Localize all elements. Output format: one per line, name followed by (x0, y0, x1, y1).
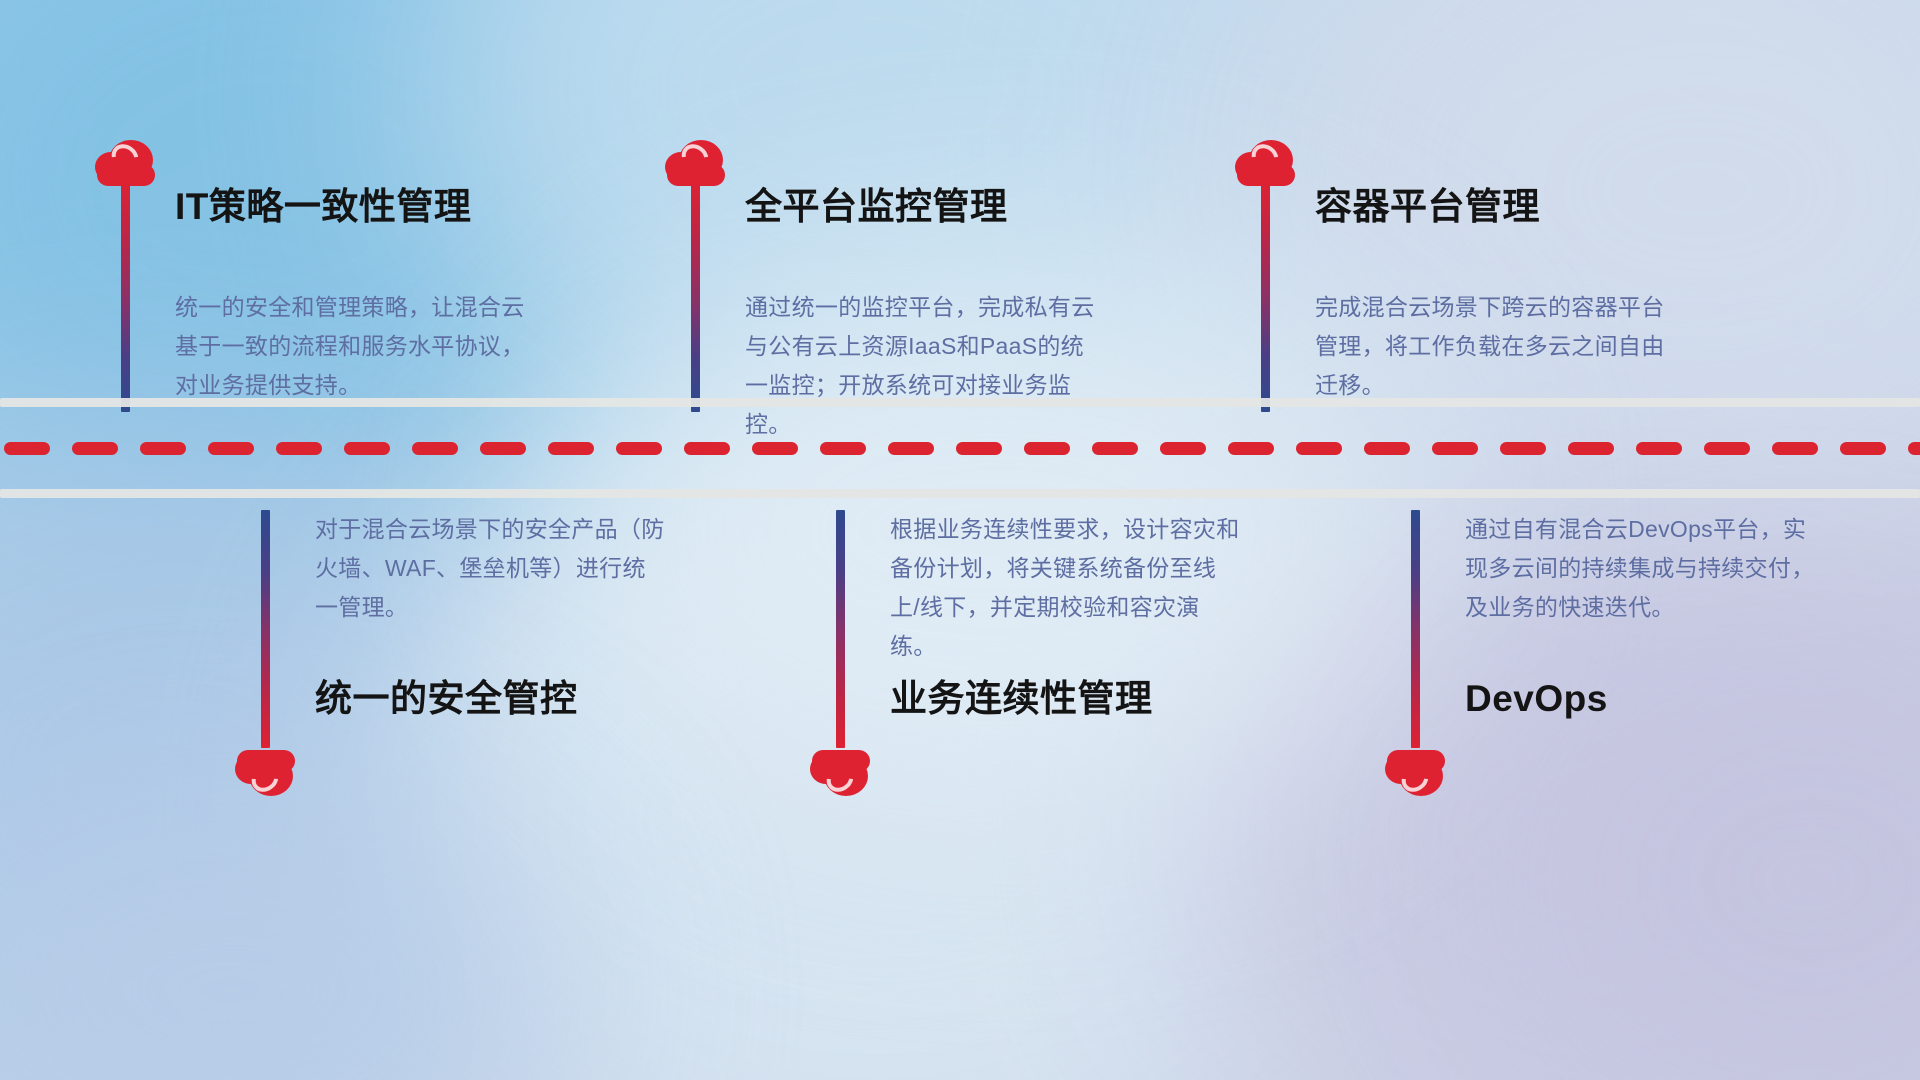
road-edge-bottom (0, 489, 1920, 498)
road-edge-top (0, 398, 1920, 407)
road-dash-segment (888, 442, 934, 455)
road-dash-segment (616, 442, 662, 455)
road-dash-segment (140, 442, 186, 455)
road-dash-segment (820, 442, 866, 455)
road-dash-segment (480, 442, 526, 455)
top-item-2: 全平台监控管理 通过统一的监控平台，完成私有云与公有云上资源IaaS和PaaS的… (665, 140, 727, 186)
item-title: IT策略一致性管理 (175, 188, 471, 225)
item-title: 业务连续性管理 (890, 680, 1153, 717)
item-title: DevOps (1465, 680, 1608, 717)
item-title: 容器平台管理 (1315, 188, 1540, 225)
road-dash-segment (1092, 442, 1138, 455)
road-divider (0, 398, 1920, 498)
road-dash-segment (1296, 442, 1342, 455)
road-dash-segment (1772, 442, 1818, 455)
item-description: 完成混合云场景下跨云的容器平台管理，将工作负载在多云之间自由迁移。 (1315, 288, 1665, 405)
road-dash-segment (1908, 442, 1920, 455)
road-dash-segment (1432, 442, 1478, 455)
cloud-icon (1385, 750, 1447, 796)
road-dash-segment (1024, 442, 1070, 455)
item-description: 根据业务连续性要求，设计容灾和备份计划，将关键系统备份至线上/线下，并定期校验和… (890, 510, 1240, 666)
cloud-icon (810, 750, 872, 796)
item-title: 全平台监控管理 (745, 188, 1008, 225)
timeline-bar (1261, 180, 1270, 412)
road-dash-segment (1364, 442, 1410, 455)
road-dash-segment (1160, 442, 1206, 455)
road-dash-segment (1568, 442, 1614, 455)
road-dashed-centerline (0, 442, 1920, 455)
road-dash-segment (72, 442, 118, 455)
road-dash-segment (956, 442, 1002, 455)
road-dash-segment (1840, 442, 1886, 455)
road-dash-segment (1500, 442, 1546, 455)
road-dash-segment (208, 442, 254, 455)
timeline-bar (121, 180, 130, 412)
road-dash-segment (1704, 442, 1750, 455)
timeline-bar (1411, 510, 1420, 748)
timeline-bar (836, 510, 845, 748)
road-dash-segment (276, 442, 322, 455)
item-description: 统一的安全和管理策略，让混合云基于一致的流程和服务水平协议，对业务提供支持。 (175, 288, 525, 405)
road-dash-segment (344, 442, 390, 455)
road-dash-segment (548, 442, 594, 455)
road-dash-segment (4, 442, 50, 455)
road-dash-segment (684, 442, 730, 455)
road-dash-segment (1636, 442, 1682, 455)
item-description: 对于混合云场景下的安全产品（防火墙、WAF、堡垒机等）进行统一管理。 (315, 510, 665, 627)
top-item-1: IT策略一致性管理 统一的安全和管理策略，让混合云基于一致的流程和服务水平协议，… (95, 140, 157, 186)
timeline-bar (261, 510, 270, 748)
road-dash-segment (752, 442, 798, 455)
item-title: 统一的安全管控 (315, 680, 578, 717)
road-dash-segment (412, 442, 458, 455)
top-item-3: 容器平台管理 完成混合云场景下跨云的容器平台管理，将工作负载在多云之间自由迁移。 (1235, 140, 1297, 186)
cloud-icon (235, 750, 297, 796)
item-description: 通过自有混合云DevOps平台，实现多云间的持续集成与持续交付，及业务的快速迭代… (1465, 510, 1815, 627)
road-dash-segment (1228, 442, 1274, 455)
timeline-bar (691, 180, 700, 412)
